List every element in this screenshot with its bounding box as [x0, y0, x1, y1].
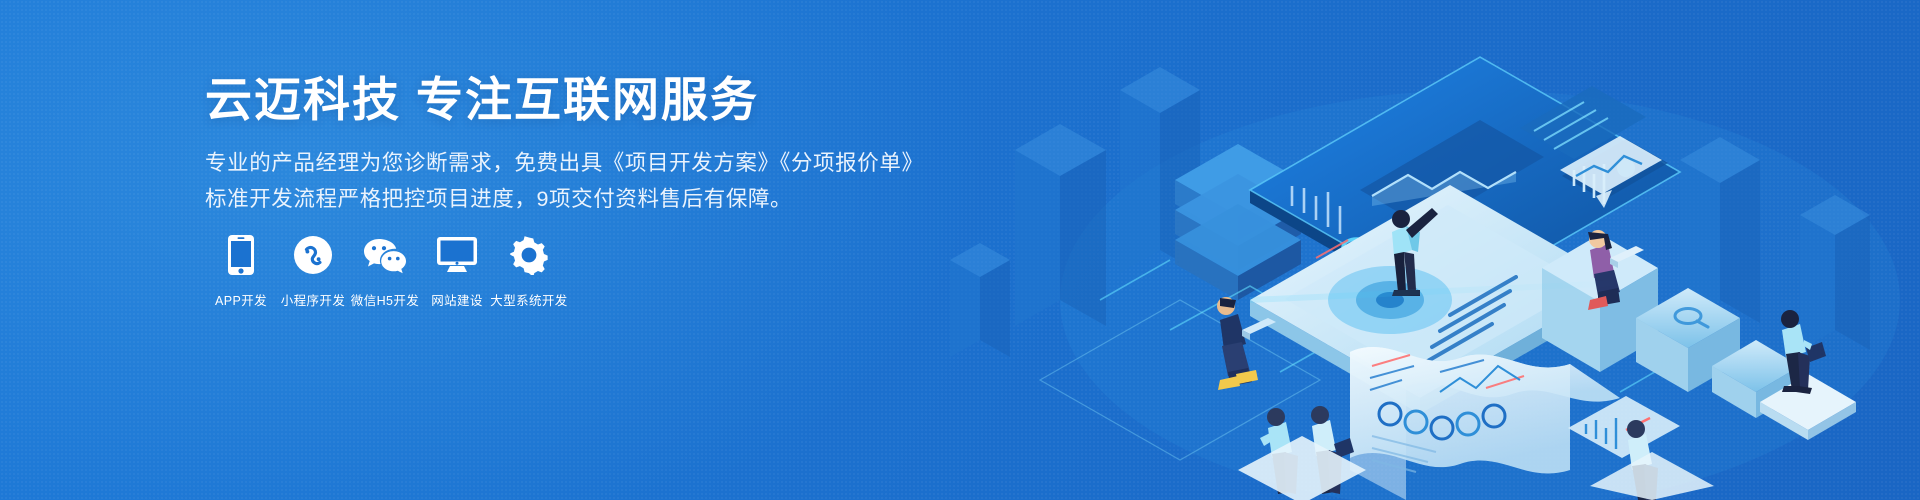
subtitle-line-2: 标准开发流程严格把控项目进度，9项交付资料售后有保障。 [205, 182, 792, 213]
service-item-large-system[interactable]: 大型系统开发 [493, 232, 565, 309]
promo-banner: 云迈科技 专注互联网服务 专业的产品经理为您诊断需求，免费出具《项目开发方案》《… [0, 0, 1920, 500]
banner-content: 云迈科技 专注互联网服务 专业的产品经理为您诊断需求，免费出具《项目开发方案》《… [205, 0, 985, 500]
service-label: 大型系统开发 [490, 290, 567, 309]
subtitle-line-1: 专业的产品经理为您诊断需求，免费出具《项目开发方案》《分项报价单》 [205, 146, 924, 177]
service-label: 网站建设 [431, 290, 483, 309]
service-list: APP开发 小程序开发 [205, 232, 565, 309]
mini-program-icon [291, 232, 335, 278]
service-label: 微信H5开发 [351, 290, 419, 309]
mobile-phone-icon [219, 232, 263, 278]
service-item-website[interactable]: 网站建设 [421, 232, 493, 309]
gear-icon [507, 232, 551, 278]
service-label: 小程序开发 [281, 290, 346, 309]
service-item-wechat-h5[interactable]: 微信H5开发 [349, 232, 421, 309]
service-item-app[interactable]: APP开发 [205, 232, 277, 309]
page-title: 云迈科技 专注互联网服务 [205, 72, 759, 127]
isometric-tech-illustration [920, 0, 1920, 500]
monitor-icon [435, 232, 479, 278]
service-item-mini-program[interactable]: 小程序开发 [277, 232, 349, 309]
wechat-icon [363, 232, 407, 278]
service-label: APP开发 [215, 290, 267, 309]
